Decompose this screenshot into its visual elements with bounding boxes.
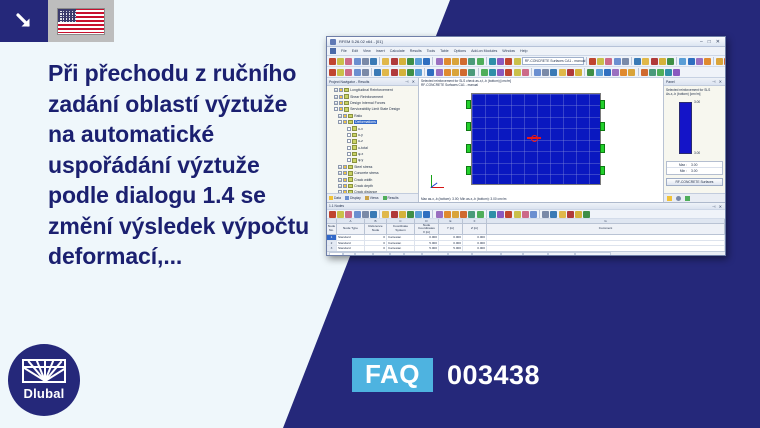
- graphics-footer-text: Max as-x,-b (bottom): 3.00; Min as-x,-b …: [421, 197, 506, 201]
- col-letter-b: B: [365, 219, 387, 223]
- menu-calculate[interactable]: Calculate: [390, 49, 405, 53]
- module-button[interactable]: RF-CONCRETE Surfaces: [666, 178, 723, 186]
- tree-item-label: u-x: [358, 127, 363, 131]
- toolbar-icon[interactable]: [622, 58, 629, 65]
- toolbar-icon[interactable]: [407, 69, 414, 76]
- toolbar-icon[interactable]: [374, 69, 381, 76]
- toolbar-icon[interactable]: [505, 211, 512, 218]
- table-tab-openings[interactable]: Openings: [404, 252, 422, 256]
- rfem-application-window[interactable]: RFEM 5.26.02 x64 - [01] – □ ✕ File Edit …: [326, 36, 726, 256]
- toolbar-icon[interactable]: [354, 211, 361, 218]
- toolbar-icon[interactable]: [329, 211, 336, 218]
- toolbar-icon[interactable]: [452, 211, 459, 218]
- menu-options[interactable]: Options: [454, 49, 466, 53]
- table-rows-container[interactable]: 1Standard0Cartesian0.0000.0000.0002Stand…: [327, 235, 725, 251]
- toolbar-icon[interactable]: [362, 58, 369, 65]
- results-panel-header: Panel ⊣ ✕: [664, 78, 725, 86]
- toolbar-icon[interactable]: [575, 211, 582, 218]
- tree-checkbox[interactable]: [343, 120, 347, 124]
- secondary-toolbar[interactable]: [327, 67, 725, 78]
- support-marker: [466, 166, 471, 175]
- tree-checkbox[interactable]: [343, 184, 347, 188]
- tree-checkbox[interactable]: [339, 107, 343, 111]
- tree-expander-icon[interactable]: +: [334, 88, 338, 92]
- table-cell[interactable]: Cartesian: [387, 235, 415, 240]
- toolbar-icon[interactable]: [724, 58, 725, 65]
- graphics-caption-line2: RF-CONCRETE Surfaces CA1 - manual: [421, 83, 511, 87]
- tree-item-label: Ratio: [354, 114, 362, 118]
- tree-expander-icon[interactable]: +: [338, 171, 342, 175]
- table-tab-solids[interactable]: Solids: [390, 252, 403, 256]
- toolbar-icon[interactable]: [362, 69, 369, 76]
- header-coord-z: Z [m]: [463, 224, 487, 234]
- tree-item-label: φ-y: [358, 158, 363, 162]
- workspace: Project Navigator - Results ⊣ ✕ +Longitu…: [327, 78, 725, 202]
- navigator-tab-display[interactable]: Display: [345, 196, 361, 200]
- toolbar-icon[interactable]: [337, 69, 344, 76]
- menu-help[interactable]: Help: [520, 49, 527, 53]
- table-tab-cross-sections[interactable]: Cross-Sections: [523, 252, 549, 256]
- toolbar-icon[interactable]: [477, 211, 484, 218]
- toolbar-icon[interactable]: [559, 211, 566, 218]
- toolbar-icon[interactable]: [587, 69, 594, 76]
- header-coord-y: Y [m]: [439, 224, 463, 234]
- toolbar-icon[interactable]: [436, 69, 443, 76]
- table-cell[interactable]: 2: [327, 241, 337, 246]
- window-title: RFEM 5.26.02 x64 - [01]: [339, 39, 383, 44]
- load-case-combo[interactable]: RF-CONCRETE Surfaces CA1 - manual: [522, 57, 584, 65]
- table-cell[interactable]: Standard: [337, 241, 365, 246]
- table-cell[interactable]: 5.000: [415, 246, 439, 251]
- toolbar-icon[interactable]: [329, 58, 336, 65]
- toolbar-icon[interactable]: [460, 58, 467, 65]
- bridge-truss-icon: [22, 359, 66, 383]
- toolbar-icon[interactable]: [460, 211, 467, 218]
- tree-item-icon: [348, 120, 353, 125]
- table-cell[interactable]: 5.000: [439, 246, 463, 251]
- table-cell[interactable]: 0.000: [463, 241, 487, 246]
- toolbar-icon[interactable]: [468, 58, 475, 65]
- toolbar-icon[interactable]: [477, 58, 484, 65]
- menu-insert[interactable]: Insert: [376, 49, 385, 53]
- header-coordinate-system: CoordinateSystem: [387, 224, 415, 234]
- toolbar-icon[interactable]: [489, 69, 496, 76]
- toolbar-icon[interactable]: [665, 69, 672, 76]
- graphics-view[interactable]: Selected reinforcement for SLS check as-…: [419, 78, 663, 202]
- tree-item-label: Deformations: [354, 120, 377, 124]
- table-cell[interactable]: 3: [327, 246, 337, 251]
- table-cell[interactable]: Cartesian: [387, 246, 415, 251]
- navigator-pin-close-icons[interactable]: ⊣ ✕: [405, 79, 416, 84]
- toolbar-icon[interactable]: [716, 58, 723, 65]
- panel-chart-icon[interactable]: [685, 196, 690, 201]
- toolbar-icon[interactable]: [522, 211, 529, 218]
- support-marker: [600, 122, 605, 131]
- toolbar-icon[interactable]: [489, 211, 496, 218]
- toolbar-icon[interactable]: [497, 211, 504, 218]
- menu-edit[interactable]: Edit: [352, 49, 358, 53]
- table-tab-member-eccentricities[interactable]: Member Eccentricities: [575, 252, 610, 256]
- table-grid[interactable]: A B C D E F G NodeNo. Node Type: [327, 219, 725, 251]
- toolbar-icon[interactable]: [704, 58, 711, 65]
- tree-checkbox[interactable]: [347, 127, 351, 131]
- toolbar-icon[interactable]: [427, 69, 434, 76]
- toolbar-icon[interactable]: [649, 69, 656, 76]
- toolbar-separator: [432, 57, 433, 65]
- tree-expander-icon[interactable]: -: [334, 107, 338, 111]
- table-cell[interactable]: 0: [365, 246, 387, 251]
- toolbar-icon[interactable]: [391, 211, 398, 218]
- toolbar-icon[interactable]: [589, 58, 596, 65]
- tree-item-icon: [352, 152, 357, 157]
- toolbar-icon[interactable]: [460, 69, 467, 76]
- tree-expander-icon[interactable]: +: [338, 165, 342, 169]
- toolbar-icon[interactable]: [444, 69, 451, 76]
- menu-view[interactable]: View: [363, 49, 371, 53]
- tree-checkbox[interactable]: [343, 165, 347, 169]
- table-zone[interactable]: 1.1 Nodes ⊣ ✕ A B C D E F G NodeNo.: [327, 202, 725, 256]
- tree-item-icon: [344, 101, 349, 106]
- toolbar-icon[interactable]: [382, 211, 389, 218]
- col-letter-e: E: [439, 219, 463, 223]
- toolbar-separator: [676, 57, 677, 65]
- results-panel-footer[interactable]: [664, 193, 725, 202]
- table-cell[interactable]: 0: [365, 241, 387, 246]
- toolbar-icon[interactable]: [489, 58, 496, 65]
- panel-color-icon[interactable]: [667, 196, 672, 201]
- tree-checkbox[interactable]: [343, 171, 347, 175]
- table-tab-line-hinges[interactable]: Line Hinges: [501, 252, 522, 256]
- toolbar-separator: [631, 57, 632, 65]
- toolbar-icon[interactable]: [399, 211, 406, 218]
- toolbar-icon[interactable]: [596, 69, 603, 76]
- toolbar-icon[interactable]: [673, 69, 680, 76]
- navigator-tab-views[interactable]: Views: [365, 196, 379, 200]
- panel-filter-icon[interactable]: [676, 196, 681, 201]
- coordinate-axis-icon: [431, 172, 447, 188]
- toolbar-icon[interactable]: [468, 211, 475, 218]
- result-value-marker: [527, 137, 541, 139]
- toolbar-icon[interactable]: [514, 58, 521, 65]
- toolbar-icon[interactable]: [614, 58, 621, 65]
- table-pin-close-icons[interactable]: ⊣ ✕: [712, 204, 723, 209]
- navigator-tab-data[interactable]: Data: [329, 196, 341, 200]
- maximize-button[interactable]: □: [708, 39, 711, 45]
- table-cell[interactable]: 0.000: [439, 235, 463, 240]
- toolbar-separator: [379, 210, 380, 218]
- table-cell[interactable]: 0.000: [463, 246, 487, 251]
- header-coord-x: Node CoordinatesX [m]: [415, 224, 439, 234]
- table-cell[interactable]: Cartesian: [387, 241, 415, 246]
- tree-item-label: Longitudinal Reinforcement: [350, 88, 393, 92]
- toolbar-separator: [539, 210, 540, 218]
- toolbar-icon[interactable]: [436, 58, 443, 65]
- toolbar-icon[interactable]: [452, 69, 459, 76]
- tree-item-icon: [352, 139, 357, 144]
- tree-checkbox[interactable]: [339, 95, 343, 99]
- toolbar-icon[interactable]: [567, 211, 574, 218]
- tree-checkbox[interactable]: [339, 88, 343, 92]
- toolbar-icon[interactable]: [628, 69, 635, 76]
- project-navigator[interactable]: Project Navigator - Results ⊣ ✕ +Longitu…: [327, 78, 419, 202]
- menu-addon-modules[interactable]: Add-on Modules: [471, 49, 497, 53]
- toolbar-icon[interactable]: [345, 211, 352, 218]
- toolbar-icon[interactable]: [514, 211, 521, 218]
- results-pin-close-icons[interactable]: ⊣ ✕: [712, 79, 723, 84]
- navigator-tab-results[interactable]: Results: [383, 196, 399, 200]
- table-cell[interactable]: 0: [365, 235, 387, 240]
- toolbar-icon[interactable]: [468, 69, 475, 76]
- us-flag-icon: [48, 0, 114, 42]
- tree-item-label: Serviceability Limit State Design: [350, 107, 400, 111]
- menu-grip-icon: [330, 48, 336, 54]
- results-panel[interactable]: Panel ⊣ ✕ Selected reinforcement for SLS…: [663, 78, 725, 202]
- toolbar-separator: [478, 68, 479, 76]
- toolbar-icon[interactable]: [452, 58, 459, 65]
- minimize-button[interactable]: –: [700, 39, 703, 45]
- tree-checkbox[interactable]: [347, 152, 351, 156]
- toolbar-icon[interactable]: [391, 58, 398, 65]
- slide-canvas: Při přechodu z ručního zadání oblastí vý…: [0, 0, 760, 428]
- toolbar-icon[interactable]: [337, 58, 344, 65]
- arrow-down-right-icon: [0, 0, 48, 42]
- toolbar-separator: [638, 68, 639, 76]
- min-max-box: Max : 3.00 Min : 3.00: [666, 161, 723, 175]
- toolbar-separator: [379, 57, 380, 65]
- menu-bar[interactable]: File Edit View Insert Calculate Results …: [327, 47, 725, 56]
- toolbar-icon[interactable]: [688, 58, 695, 65]
- toolbar-icon[interactable]: [505, 58, 512, 65]
- table-tab-line-supports[interactable]: Line Supports: [448, 252, 472, 256]
- tree-expander-icon[interactable]: +: [334, 95, 338, 99]
- table-cell[interactable]: 0.000: [463, 235, 487, 240]
- toolbar-separator: [486, 57, 487, 65]
- column-header-row: NodeNo. Node Type ReferenceNode Coordina…: [327, 224, 725, 235]
- toolbar-icon[interactable]: [651, 58, 658, 65]
- tree-item-icon: [352, 145, 357, 150]
- support-marker: [466, 122, 471, 131]
- scale-tick-bottom: 3.00: [694, 151, 700, 155]
- support-marker: [600, 100, 605, 109]
- tree-item-icon: [352, 158, 357, 163]
- toolbar-icon[interactable]: [667, 58, 674, 65]
- toolbar-icon[interactable]: [407, 211, 414, 218]
- toolbar-icon[interactable]: [436, 211, 443, 218]
- toolbar-icon[interactable]: [345, 69, 352, 76]
- table-cell[interactable]: 0.000: [415, 235, 439, 240]
- toolbar-icon[interactable]: [505, 69, 512, 76]
- toolbar-icon[interactable]: [530, 211, 537, 218]
- toolbar-icon[interactable]: [605, 58, 612, 65]
- toolbar-icon[interactable]: [391, 69, 398, 76]
- toolbar-icon[interactable]: [337, 211, 344, 218]
- table-tab-nodes[interactable]: Nodes: [329, 252, 343, 256]
- table-cell[interactable]: 0.000: [439, 241, 463, 246]
- toolbar-icon[interactable]: [634, 58, 641, 65]
- toolbar-icon[interactable]: [522, 69, 529, 76]
- toolbar-icon[interactable]: [370, 58, 377, 65]
- toolbar-icon[interactable]: [345, 58, 352, 65]
- navigator-tree[interactable]: +Longitudinal Reinforcement+Shear Reinfo…: [327, 86, 418, 193]
- tree-expander-icon[interactable]: +: [334, 101, 338, 105]
- toolbar-icon[interactable]: [415, 211, 422, 218]
- tree-checkbox[interactable]: [339, 101, 343, 105]
- menu-window[interactable]: Window: [502, 49, 515, 53]
- toolbar-icon[interactable]: [354, 58, 361, 65]
- tree-item-label: Steel stress: [354, 165, 372, 169]
- color-scale[interactable]: 3.00 3.00: [666, 99, 723, 159]
- table-tab-strip[interactable]: NodesLinesMaterialsSurfacesSolidsOpening…: [327, 251, 725, 256]
- toolbar-icon[interactable]: [399, 69, 406, 76]
- table-cell[interactable]: [487, 246, 725, 251]
- col-letter-g: G: [487, 219, 725, 223]
- table-tab-surfaces[interactable]: Surfaces: [373, 252, 390, 256]
- tree-item-label: φ-x: [358, 152, 363, 156]
- close-button[interactable]: ✕: [716, 39, 720, 45]
- tree-checkbox[interactable]: [343, 178, 347, 182]
- tree-expander-icon[interactable]: +: [338, 114, 342, 118]
- toolbar-icon[interactable]: [481, 69, 488, 76]
- toolbar-icon[interactable]: [604, 69, 611, 76]
- table-toolbar[interactable]: [327, 210, 725, 219]
- window-titlebar: RFEM 5.26.02 x64 - [01] – □ ✕: [327, 37, 725, 47]
- tree-checkbox[interactable]: [343, 114, 347, 118]
- tree-item-icon: [344, 88, 349, 93]
- tree-item-icon: [348, 177, 353, 182]
- toolbar-icon[interactable]: [534, 69, 541, 76]
- toolbar-icon[interactable]: [542, 211, 549, 218]
- toolbar-icon[interactable]: [415, 69, 422, 76]
- toolbar-icon[interactable]: [567, 69, 574, 76]
- toolbar-icon[interactable]: [642, 58, 649, 65]
- toolbar-icon[interactable]: [370, 211, 377, 218]
- toolbar-icon[interactable]: [612, 69, 619, 76]
- tree-item-icon: [344, 107, 349, 112]
- tree-item-icon: [348, 165, 353, 170]
- toolbar-icon[interactable]: [399, 58, 406, 65]
- toolbar-icon[interactable]: [550, 211, 557, 218]
- tree-expander-icon[interactable]: -: [338, 120, 342, 124]
- navigator-header: Project Navigator - Results ⊣ ✕: [327, 78, 418, 86]
- tree-item-label: Shear Reinforcement: [350, 95, 383, 99]
- table-cell[interactable]: Standard: [337, 246, 365, 251]
- toolbar-separator: [713, 57, 714, 65]
- toolbar-icon[interactable]: [575, 69, 582, 76]
- toolbar-icon[interactable]: [679, 58, 686, 65]
- toolbar-icon[interactable]: [407, 58, 414, 65]
- col-letter-0: [327, 219, 337, 223]
- toolbar-icon[interactable]: [497, 69, 504, 76]
- toolbar-icon[interactable]: [329, 69, 336, 76]
- toolbar-icon[interactable]: [362, 211, 369, 218]
- app-icon: [330, 39, 336, 45]
- toolbar-icon[interactable]: [696, 58, 703, 65]
- menu-tools[interactable]: Tools: [427, 49, 435, 53]
- max-value: 3.00: [689, 163, 699, 167]
- main-toolbar[interactable]: RF-CONCRETE Surfaces CA1 - manual: [327, 56, 725, 67]
- navigator-tabs[interactable]: Data Display Views Results: [327, 193, 418, 202]
- toolbar-icon[interactable]: [659, 58, 666, 65]
- tree-item-icon: [344, 94, 349, 99]
- toolbar-icon[interactable]: [444, 58, 451, 65]
- table-header-bar: 1.1 Nodes ⊣ ✕: [327, 203, 725, 210]
- menu-table[interactable]: Table: [440, 49, 449, 53]
- toolbar-icon[interactable]: [641, 69, 648, 76]
- tree-expander-icon[interactable]: +: [338, 184, 342, 188]
- table-tab-surface-supports[interactable]: Surface Supports: [472, 252, 501, 256]
- toolbar-separator: [531, 68, 532, 76]
- support-marker: [466, 144, 471, 153]
- tree-expander-icon[interactable]: +: [338, 178, 342, 182]
- min-value: 3.00: [689, 169, 699, 173]
- toolbar-icon[interactable]: [423, 211, 430, 218]
- toolbar-icon[interactable]: [382, 58, 389, 65]
- support-marker: [466, 100, 471, 109]
- toolbar-icon[interactable]: [354, 69, 361, 76]
- toolbar-icon[interactable]: [497, 58, 504, 65]
- toolbar-icon[interactable]: [583, 211, 590, 218]
- graphics-caption: Selected reinforcement for SLS check as-…: [421, 79, 511, 88]
- toolbar-icon[interactable]: [657, 69, 664, 76]
- table-cell[interactable]: [487, 241, 725, 246]
- tree-item-label: u-total: [358, 146, 368, 150]
- table-cell[interactable]: 5.000: [415, 241, 439, 246]
- dlubal-logo: Dlubal: [8, 344, 80, 416]
- toolbar-icon[interactable]: [620, 69, 627, 76]
- table-title: 1.1 Nodes: [329, 204, 344, 208]
- table-cell[interactable]: Standard: [337, 235, 365, 240]
- table-cell[interactable]: [487, 235, 725, 240]
- toolbar-icon[interactable]: [597, 58, 604, 65]
- table-tab-nodal-supports[interactable]: Nodal Supports: [422, 252, 448, 256]
- toolbar-icon[interactable]: [559, 69, 566, 76]
- header-reference-node: ReferenceNode: [365, 224, 387, 234]
- toolbar-icon[interactable]: [423, 58, 430, 65]
- col-letter-a: A: [337, 219, 365, 223]
- tree-item-label: Crack width: [354, 178, 372, 182]
- tree-checkbox[interactable]: [347, 133, 351, 137]
- toolbar-separator: [371, 68, 372, 76]
- window-controls[interactable]: – □ ✕: [700, 39, 722, 45]
- table-tab-lines[interactable]: Lines: [343, 252, 355, 256]
- table-tab-member-hinges[interactable]: Member Hinges: [548, 252, 575, 256]
- tree-item-icon: [348, 171, 353, 176]
- toolbar-icon[interactable]: [550, 69, 557, 76]
- header-node-no: NodeNo.: [327, 224, 337, 234]
- min-label: Min :: [667, 169, 689, 173]
- tree-item-label: Concrete stress: [354, 171, 379, 175]
- faq-number: 003438: [447, 360, 540, 391]
- tree-item-label: u-z: [358, 139, 363, 143]
- tree-checkbox[interactable]: [347, 158, 351, 162]
- menu-file[interactable]: File: [341, 49, 347, 53]
- tree-checkbox[interactable]: [347, 139, 351, 143]
- results-panel-body: Selected reinforcement for SLS As-x,-b (…: [664, 86, 725, 193]
- toolbar-icon[interactable]: [542, 69, 549, 76]
- toolbar-icon[interactable]: [415, 58, 422, 65]
- toolbar-icon[interactable]: [382, 69, 389, 76]
- tree-item-icon: [348, 114, 353, 119]
- col-letter-f: F: [463, 219, 487, 223]
- tree-checkbox[interactable]: [347, 146, 351, 150]
- toolbar-icon[interactable]: [514, 69, 521, 76]
- toolbar-icon[interactable]: [444, 211, 451, 218]
- faq-footer: FAQ 003438: [352, 358, 540, 392]
- header-badges: [0, 0, 114, 42]
- menu-results[interactable]: Results: [410, 49, 422, 53]
- table-tab-materials[interactable]: Materials: [355, 252, 373, 256]
- table-cell[interactable]: 1: [327, 235, 337, 240]
